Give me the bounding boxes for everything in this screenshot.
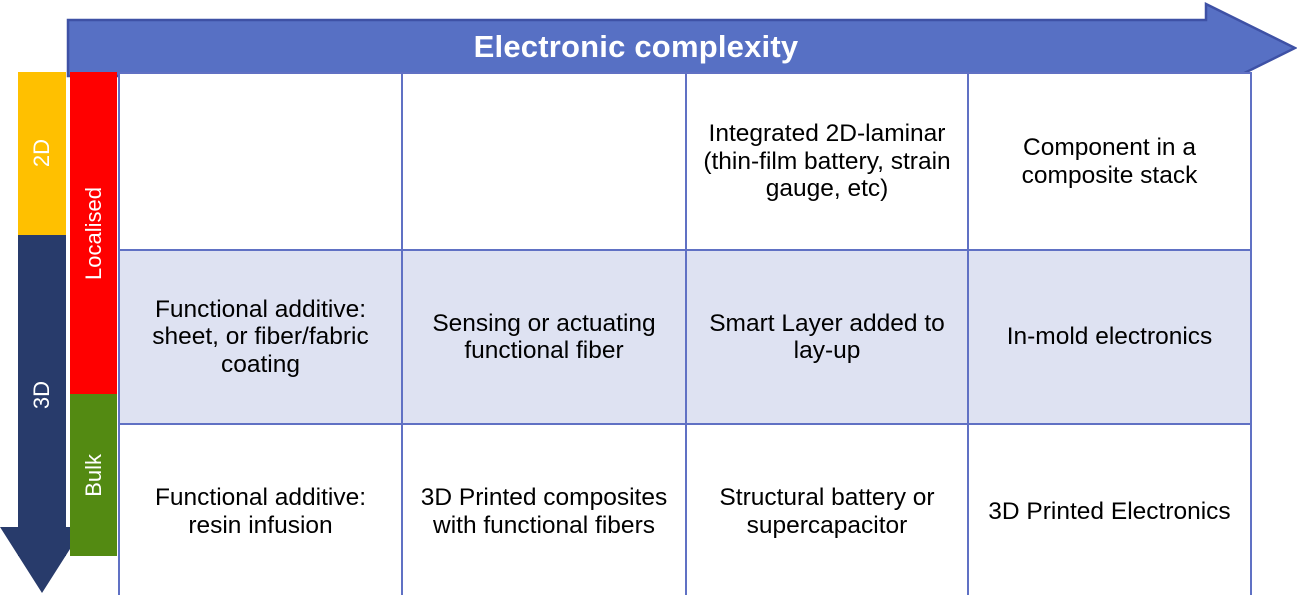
complexity-matrix-table: Integrated 2D-laminar (thin-film battery… — [118, 72, 1252, 595]
dimension-band-3d: 3D — [18, 235, 66, 556]
matrix-cell: 3D Printed Electronics — [968, 424, 1251, 595]
matrix-cell: Integrated 2D-laminar (thin-film battery… — [686, 73, 968, 250]
scale-band-localised: Localised — [70, 72, 117, 394]
matrix-cell: Smart Layer added to lay-up — [686, 250, 968, 424]
matrix-cell: Functional additive: sheet, or fiber/fab… — [119, 250, 402, 424]
matrix-cell: Component in a composite stack — [968, 73, 1251, 250]
table-row: Integrated 2D-laminar (thin-film battery… — [119, 73, 1251, 250]
matrix-cell: Functional additive: resin infusion — [119, 424, 402, 595]
scale-band-bulk: Bulk — [70, 394, 117, 556]
dimension-band-2d-label: 2D — [29, 139, 55, 167]
matrix-cell — [402, 73, 686, 250]
scale-band-localised-label: Localised — [81, 187, 107, 280]
dimension-band-2d: 2D — [18, 72, 66, 235]
scale-band-bulk-label: Bulk — [81, 454, 107, 497]
matrix-cell: Sensing or actuating functional fiber — [402, 250, 686, 424]
table-row: Functional additive: resin infusion 3D P… — [119, 424, 1251, 595]
matrix-cell: 3D Printed composites with functional fi… — [402, 424, 686, 595]
matrix-cell: Structural battery or supercapacitor — [686, 424, 968, 595]
table-row: Functional additive: sheet, or fiber/fab… — [119, 250, 1251, 424]
matrix-cell — [119, 73, 402, 250]
matrix-cell: In-mold electronics — [968, 250, 1251, 424]
diagram-canvas: Electronic complexity 2D 3D Localised Bu… — [0, 0, 1299, 595]
dimension-band-3d-label: 3D — [29, 381, 55, 409]
